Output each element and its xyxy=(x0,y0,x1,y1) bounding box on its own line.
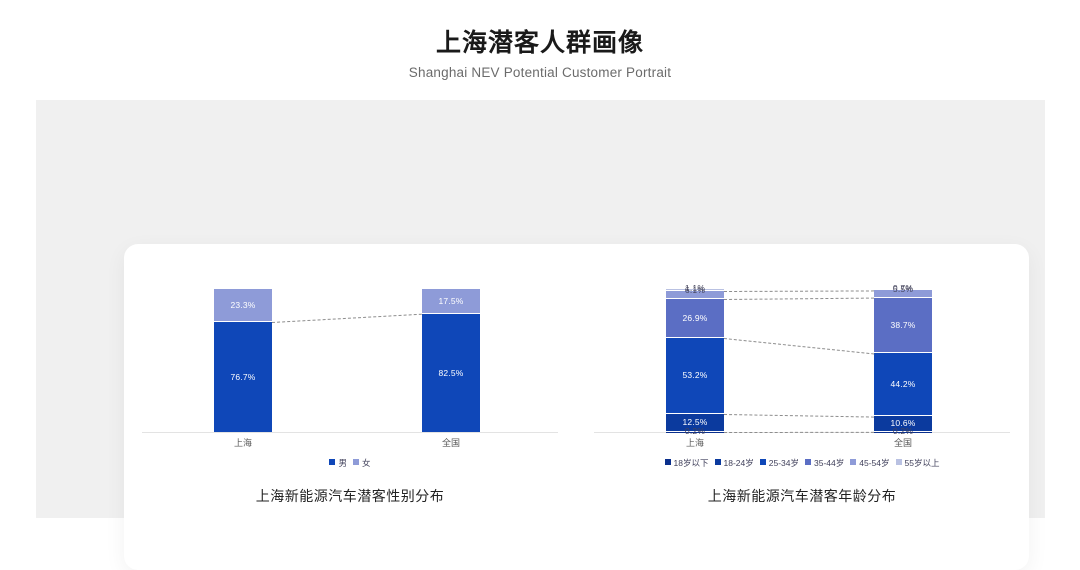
chart-legend: 男女 xyxy=(124,457,576,469)
legend-label: 18-24岁 xyxy=(724,458,754,468)
bar-全国[interactable]: 17.5%82.5% xyxy=(422,289,480,432)
segment-value-label: 6.1% xyxy=(666,285,724,295)
legend-swatch-icon xyxy=(896,459,902,465)
chart-age: 1.1%6.1%26.9%53.2%12.5%0.2%0.7%5.5%38.7%… xyxy=(576,244,1028,570)
legend-label: 男 xyxy=(338,458,347,468)
legend-swatch-icon xyxy=(329,459,335,465)
page-subtitle: Shanghai NEV Potential Customer Portrait xyxy=(0,64,1080,82)
bar-全国[interactable]: 0.7%5.5%38.7%44.2%10.6%0.2% xyxy=(874,289,932,432)
legend-item-35-44岁[interactable]: 35-44岁 xyxy=(805,457,844,469)
segment-value-label: 17.5% xyxy=(422,296,480,306)
bar-segment-35-44岁[interactable]: 26.9% xyxy=(666,299,724,337)
legend-swatch-icon xyxy=(805,459,811,465)
segment-value-label: 0.2% xyxy=(666,426,724,436)
gray-backdrop-panel: 23.3%76.7%17.5%82.5%上海全国男女上海新能源汽车潜客性别分布1… xyxy=(36,100,1045,518)
bar-segment-35-44岁[interactable]: 38.7% xyxy=(874,298,932,353)
category-axis-labels: 上海全国 xyxy=(576,436,1028,452)
bar-segment-45-54岁[interactable]: 5.5% xyxy=(874,290,932,298)
legend-item-女[interactable]: 女 xyxy=(353,457,371,469)
segment-value-label: 44.2% xyxy=(874,379,932,389)
legend-swatch-icon xyxy=(850,459,856,465)
segment-value-label: 0.2% xyxy=(874,426,932,436)
segment-value-label: 38.7% xyxy=(874,320,932,330)
connector-dashed-line xyxy=(724,414,874,418)
segment-value-label: 26.9% xyxy=(666,313,724,323)
legend-label: 35-44岁 xyxy=(814,458,844,468)
plot-area: 23.3%76.7%17.5%82.5% xyxy=(124,290,576,433)
connector-dashed-line xyxy=(272,314,422,323)
legend-label: 女 xyxy=(362,458,371,468)
legend-label: 45-54岁 xyxy=(859,458,889,468)
x-axis-line xyxy=(142,432,558,433)
legend-swatch-icon xyxy=(665,459,671,465)
segment-value-label: 53.2% xyxy=(666,370,724,380)
charts-container: 23.3%76.7%17.5%82.5%上海全国男女上海新能源汽车潜客性别分布1… xyxy=(124,244,1029,570)
segment-value-label: 76.7% xyxy=(214,372,272,382)
bar-上海[interactable]: 1.1%6.1%26.9%53.2%12.5%0.2% xyxy=(666,289,724,432)
chart-legend: 18岁以下18-24岁25-34岁35-44岁45-54岁55岁以上 xyxy=(576,457,1028,469)
bar-segment-25-34岁[interactable]: 53.2% xyxy=(666,338,724,414)
legend-item-55岁以上[interactable]: 55岁以上 xyxy=(896,457,940,469)
legend-swatch-icon xyxy=(353,459,359,465)
legend-label: 25-34岁 xyxy=(769,458,799,468)
bar-segment-男[interactable]: 82.5% xyxy=(422,314,480,432)
bar-上海[interactable]: 23.3%76.7% xyxy=(214,289,272,432)
legend-item-18岁以下[interactable]: 18岁以下 xyxy=(665,457,709,469)
chart-gender: 23.3%76.7%17.5%82.5%上海全国男女上海新能源汽车潜客性别分布 xyxy=(124,244,576,570)
bar-segment-男[interactable]: 76.7% xyxy=(214,322,272,432)
category-axis-labels: 上海全国 xyxy=(124,436,576,452)
segment-value-label: 82.5% xyxy=(422,368,480,378)
legend-item-18-24岁[interactable]: 18-24岁 xyxy=(715,457,754,469)
page-header: 上海潜客人群画像 Shanghai NEV Potential Customer… xyxy=(0,0,1080,82)
connector-dashed-line xyxy=(724,290,874,292)
connector-dashed-line xyxy=(724,432,874,433)
bar-segment-女[interactable]: 23.3% xyxy=(214,289,272,322)
legend-swatch-icon xyxy=(715,459,721,465)
legend-label: 18岁以下 xyxy=(674,458,709,468)
chart-caption: 上海新能源汽车潜客性别分布 xyxy=(124,486,576,506)
category-label-全国: 全国 xyxy=(411,436,491,449)
chart-card: 23.3%76.7%17.5%82.5%上海全国男女上海新能源汽车潜客性别分布1… xyxy=(124,244,1029,570)
connector-dashed-line xyxy=(724,298,874,300)
legend-label: 55岁以上 xyxy=(905,458,940,468)
connector-dashed-line xyxy=(724,338,874,354)
segment-value-label: 23.3% xyxy=(214,300,272,310)
page-title: 上海潜客人群画像 xyxy=(0,26,1080,60)
legend-swatch-icon xyxy=(760,459,766,465)
bar-segment-女[interactable]: 17.5% xyxy=(422,289,480,314)
chart-caption: 上海新能源汽车潜客年龄分布 xyxy=(576,486,1028,506)
category-label-全国: 全国 xyxy=(863,436,943,449)
category-label-上海: 上海 xyxy=(655,436,735,449)
legend-item-男[interactable]: 男 xyxy=(329,457,347,469)
legend-item-25-34岁[interactable]: 25-34岁 xyxy=(760,457,799,469)
bar-segment-45-54岁[interactable]: 6.1% xyxy=(666,291,724,300)
segment-value-label: 5.5% xyxy=(874,284,932,294)
plot-area: 1.1%6.1%26.9%53.2%12.5%0.2%0.7%5.5%38.7%… xyxy=(576,290,1028,433)
category-label-上海: 上海 xyxy=(203,436,283,449)
legend-item-45-54岁[interactable]: 45-54岁 xyxy=(850,457,889,469)
bar-segment-25-34岁[interactable]: 44.2% xyxy=(874,353,932,416)
